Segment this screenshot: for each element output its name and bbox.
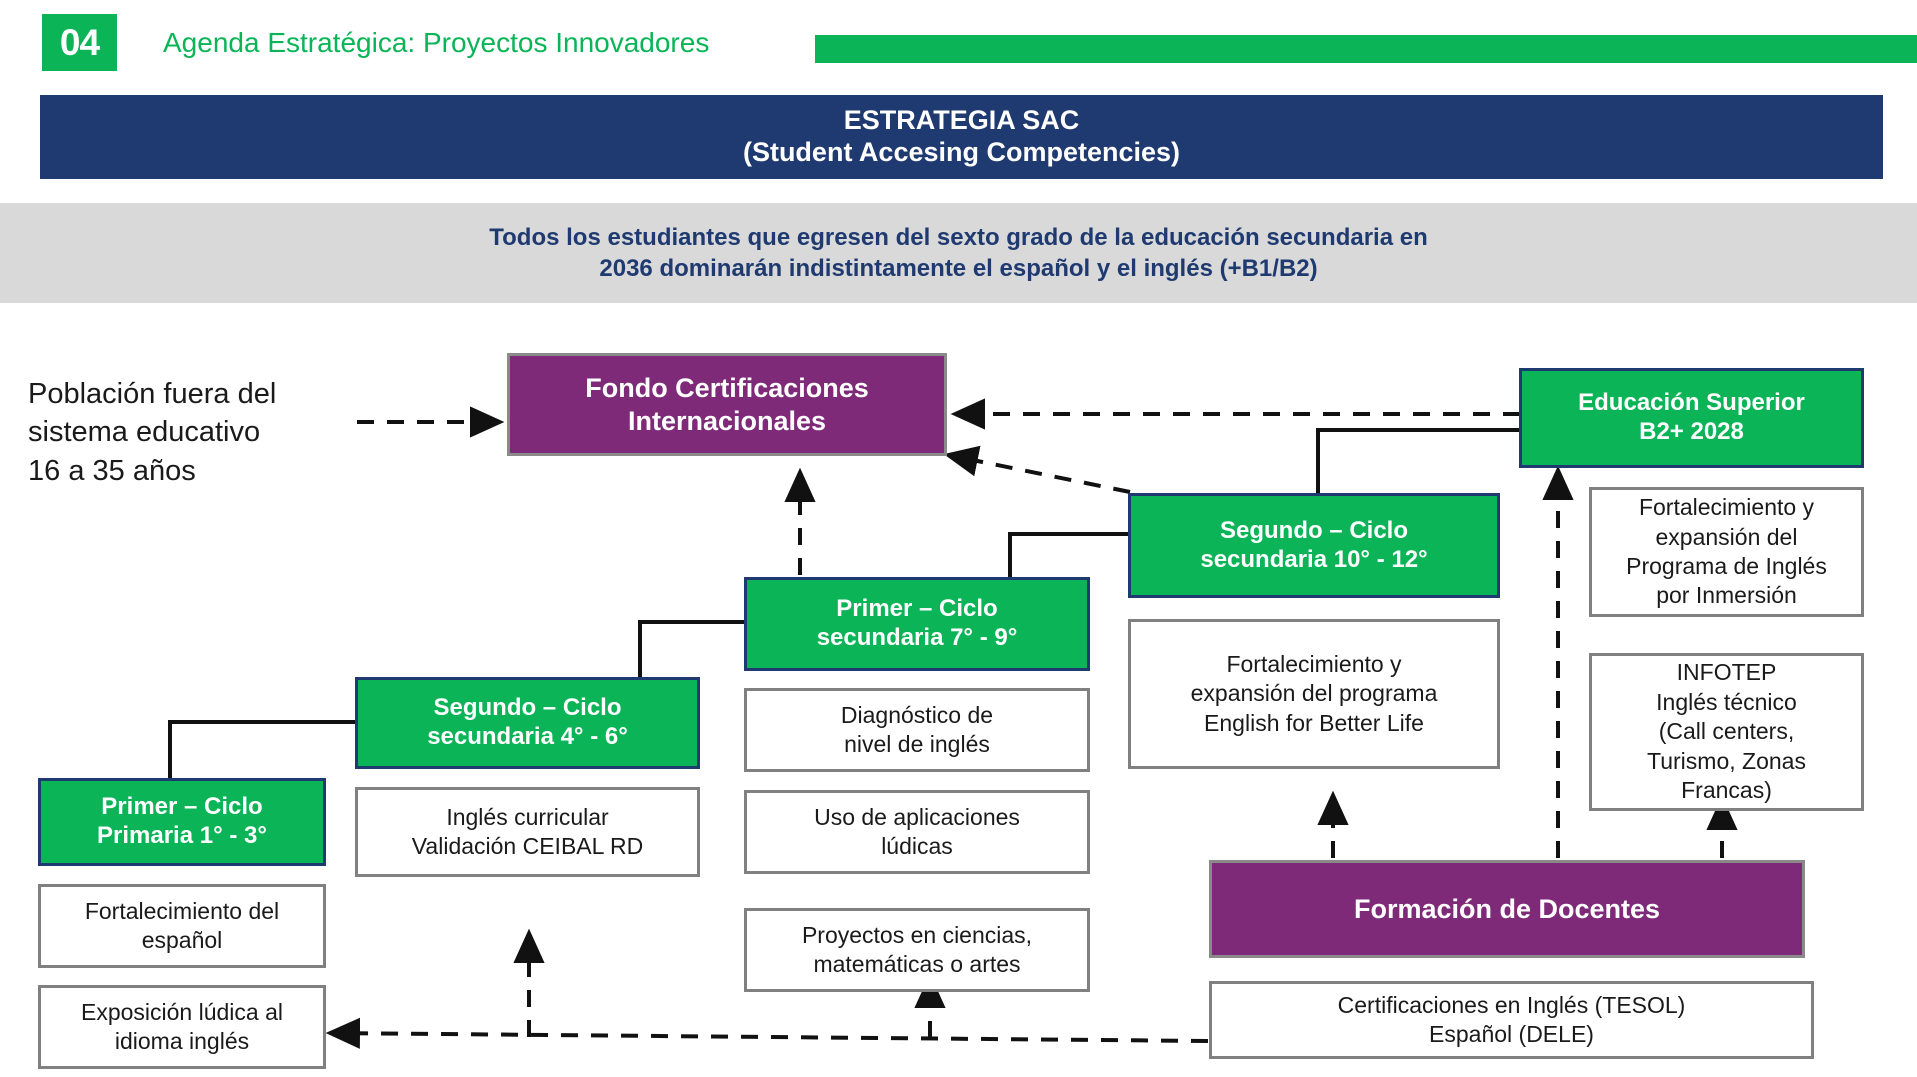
proyectos-line-2: matemáticas o artes	[813, 950, 1020, 979]
node-segundo-ciclo-4-6[interactable]: Segundo – Ciclo secundaria 4° - 6°	[355, 677, 700, 769]
curricular-line-2: Validación CEIBAL RD	[412, 832, 643, 861]
docentes-line-1: Formación de Docentes	[1354, 893, 1660, 925]
node-programa-inmersion[interactable]: Fortalecimiento y expansión del Programa…	[1589, 487, 1864, 617]
exposicion-line-2: idioma inglés	[115, 1027, 249, 1056]
poblacion-fuera-label: Población fuera del sistema educativo 16…	[28, 375, 358, 490]
infotep-line-5: Francas)	[1681, 776, 1772, 805]
node-exposicion-ludica[interactable]: Exposición lúdica al idioma inglés	[38, 985, 326, 1069]
infotep-line-4: Turismo, Zonas	[1647, 747, 1806, 776]
poblacion-line-1: Población fuera del	[28, 375, 358, 413]
segundo46-line-1: Segundo – Ciclo	[433, 694, 621, 723]
poblacion-line-3: 16 a 35 años	[28, 452, 358, 490]
proyectos-line-1: Proyectos en ciencias,	[802, 921, 1032, 950]
node-segundo-ciclo-10-12[interactable]: Segundo – Ciclo secundaria 10° - 12°	[1128, 493, 1500, 598]
segundo1012-line-1: Segundo – Ciclo	[1220, 517, 1408, 546]
node-primer-ciclo-7-9[interactable]: Primer – Ciclo secundaria 7° - 9°	[744, 577, 1090, 671]
ebl-line-1: Fortalecimiento y	[1226, 650, 1401, 679]
apps-line-2: lúdicas	[881, 832, 953, 861]
primer79-line-2: secundaria 7° - 9°	[817, 624, 1018, 653]
apps-line-1: Uso de aplicaciones	[814, 803, 1020, 832]
diagnostico-line-2: nivel de inglés	[844, 730, 990, 759]
infotep-line-1: INFOTEP	[1677, 658, 1777, 687]
primer79-line-1: Primer – Ciclo	[836, 595, 997, 624]
node-primer-ciclo-1-3[interactable]: Primer – Ciclo Primaria 1° - 3°	[38, 778, 326, 866]
arrow-certificaciones-to-exposicion	[330, 1033, 1208, 1041]
certificaciones-line-1: Certificaciones en Inglés (TESOL)	[1338, 991, 1686, 1020]
espanol-line-2: español	[142, 926, 223, 955]
certificaciones-line-2: Español (DELE)	[1429, 1020, 1594, 1049]
inmersion-line-4: por Inmersión	[1656, 581, 1797, 610]
node-fortalecimiento-espanol[interactable]: Fortalecimiento del español	[38, 884, 326, 968]
node-infotep[interactable]: INFOTEP Inglés técnico (Call centers, Tu…	[1589, 653, 1864, 811]
espanol-line-1: Fortalecimiento del	[85, 897, 279, 926]
edusuperior-line-2: B2+ 2028	[1639, 418, 1744, 447]
node-fondo-certificaciones[interactable]: Fondo Certificaciones Internacionales	[507, 353, 947, 456]
primer13-line-2: Primaria 1° - 3°	[97, 822, 267, 851]
edusuperior-line-1: Educación Superior	[1578, 389, 1805, 418]
fondo-line-2: Internacionales	[628, 405, 826, 437]
primer13-line-1: Primer – Ciclo	[101, 793, 262, 822]
diagnostico-line-1: Diagnóstico de	[841, 701, 993, 730]
node-diagnostico-nivel-ingles[interactable]: Diagnóstico de nivel de inglés	[744, 688, 1090, 772]
segundo1012-line-2: secundaria 10° - 12°	[1200, 546, 1427, 575]
node-proyectos-ciencias[interactable]: Proyectos en ciencias, matemáticas o art…	[744, 908, 1090, 992]
inmersion-line-1: Fortalecimiento y	[1639, 493, 1814, 522]
slide-canvas: 04 Agenda Estratégica: Proyectos Innovad…	[0, 0, 1917, 1077]
node-english-for-better-life[interactable]: Fortalecimiento y expansión del programa…	[1128, 619, 1500, 769]
inmersion-line-3: Programa de Inglés	[1626, 552, 1827, 581]
exposicion-line-1: Exposición lúdica al	[81, 998, 283, 1027]
ebl-line-3: English for Better Life	[1204, 709, 1424, 738]
node-uso-aplicaciones-ludicas[interactable]: Uso de aplicaciones lúdicas	[744, 790, 1090, 874]
fondo-line-1: Fondo Certificaciones	[585, 372, 869, 404]
infotep-line-3: (Call centers,	[1659, 717, 1794, 746]
node-certificaciones-tesol-dele[interactable]: Certificaciones en Inglés (TESOL) Españo…	[1209, 981, 1814, 1059]
curricular-line-1: Inglés curricular	[446, 803, 608, 832]
node-ingles-curricular[interactable]: Inglés curricular Validación CEIBAL RD	[355, 787, 700, 877]
inmersion-line-2: expansión del	[1656, 523, 1798, 552]
infotep-line-2: Inglés técnico	[1656, 688, 1797, 717]
arrow-segundo1012-to-fondo	[948, 455, 1130, 492]
segundo46-line-2: secundaria 4° - 6°	[427, 723, 628, 752]
node-formacion-docentes[interactable]: Formación de Docentes	[1209, 860, 1805, 958]
poblacion-line-2: sistema educativo	[28, 413, 358, 451]
ebl-line-2: expansión del programa	[1191, 679, 1438, 708]
node-educacion-superior[interactable]: Educación Superior B2+ 2028	[1519, 368, 1864, 468]
